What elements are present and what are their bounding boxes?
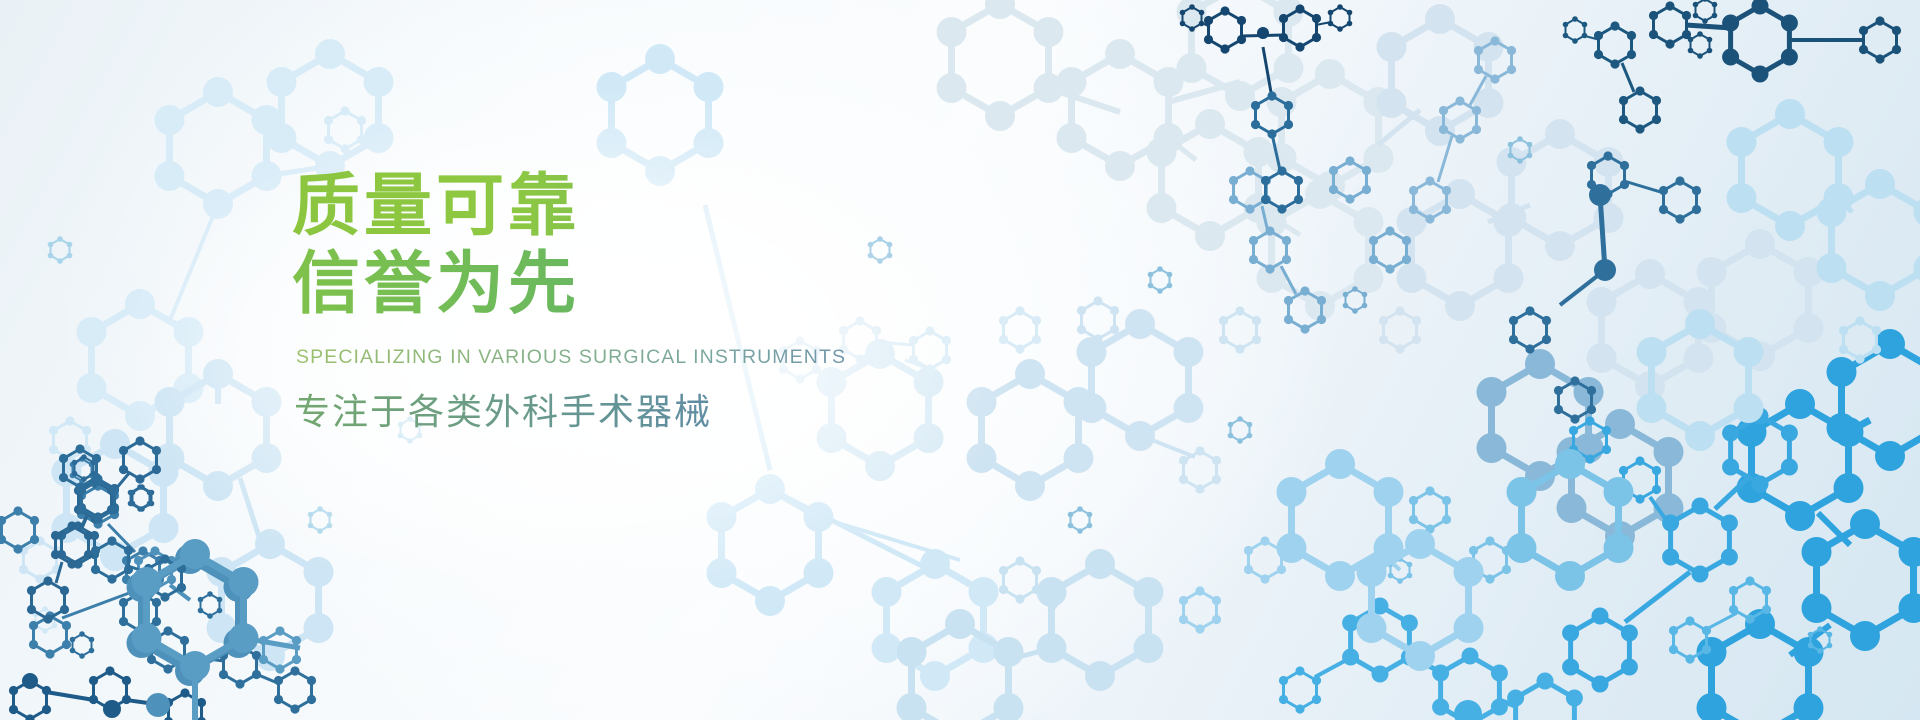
hero-banner: 质量可靠 信誉为先 SPECIALIZING IN VARIOUS SURGIC… (0, 0, 1920, 720)
headline-line-1: 质量可靠 (292, 168, 1052, 246)
subtitle-english: SPECIALIZING IN VARIOUS SURGICAL INSTRUM… (296, 346, 1052, 369)
subtitle-chinese: 专注于各类外科手术器械 (294, 383, 1052, 435)
molecule-cluster-navy-right-3 (1563, 16, 1661, 133)
molecule-cluster-navy-top-right-2 (1649, 0, 1901, 83)
molecule-cluster-right-edge-pale (1637, 99, 1920, 451)
headline-line-2: 信誉为先 (292, 246, 1052, 324)
hero-text-block: 质量可靠 信誉为先 SPECIALIZING IN VARIOUS SURGIC… (292, 168, 1052, 435)
molecule-cluster-right-lower-pale (1179, 449, 1484, 671)
